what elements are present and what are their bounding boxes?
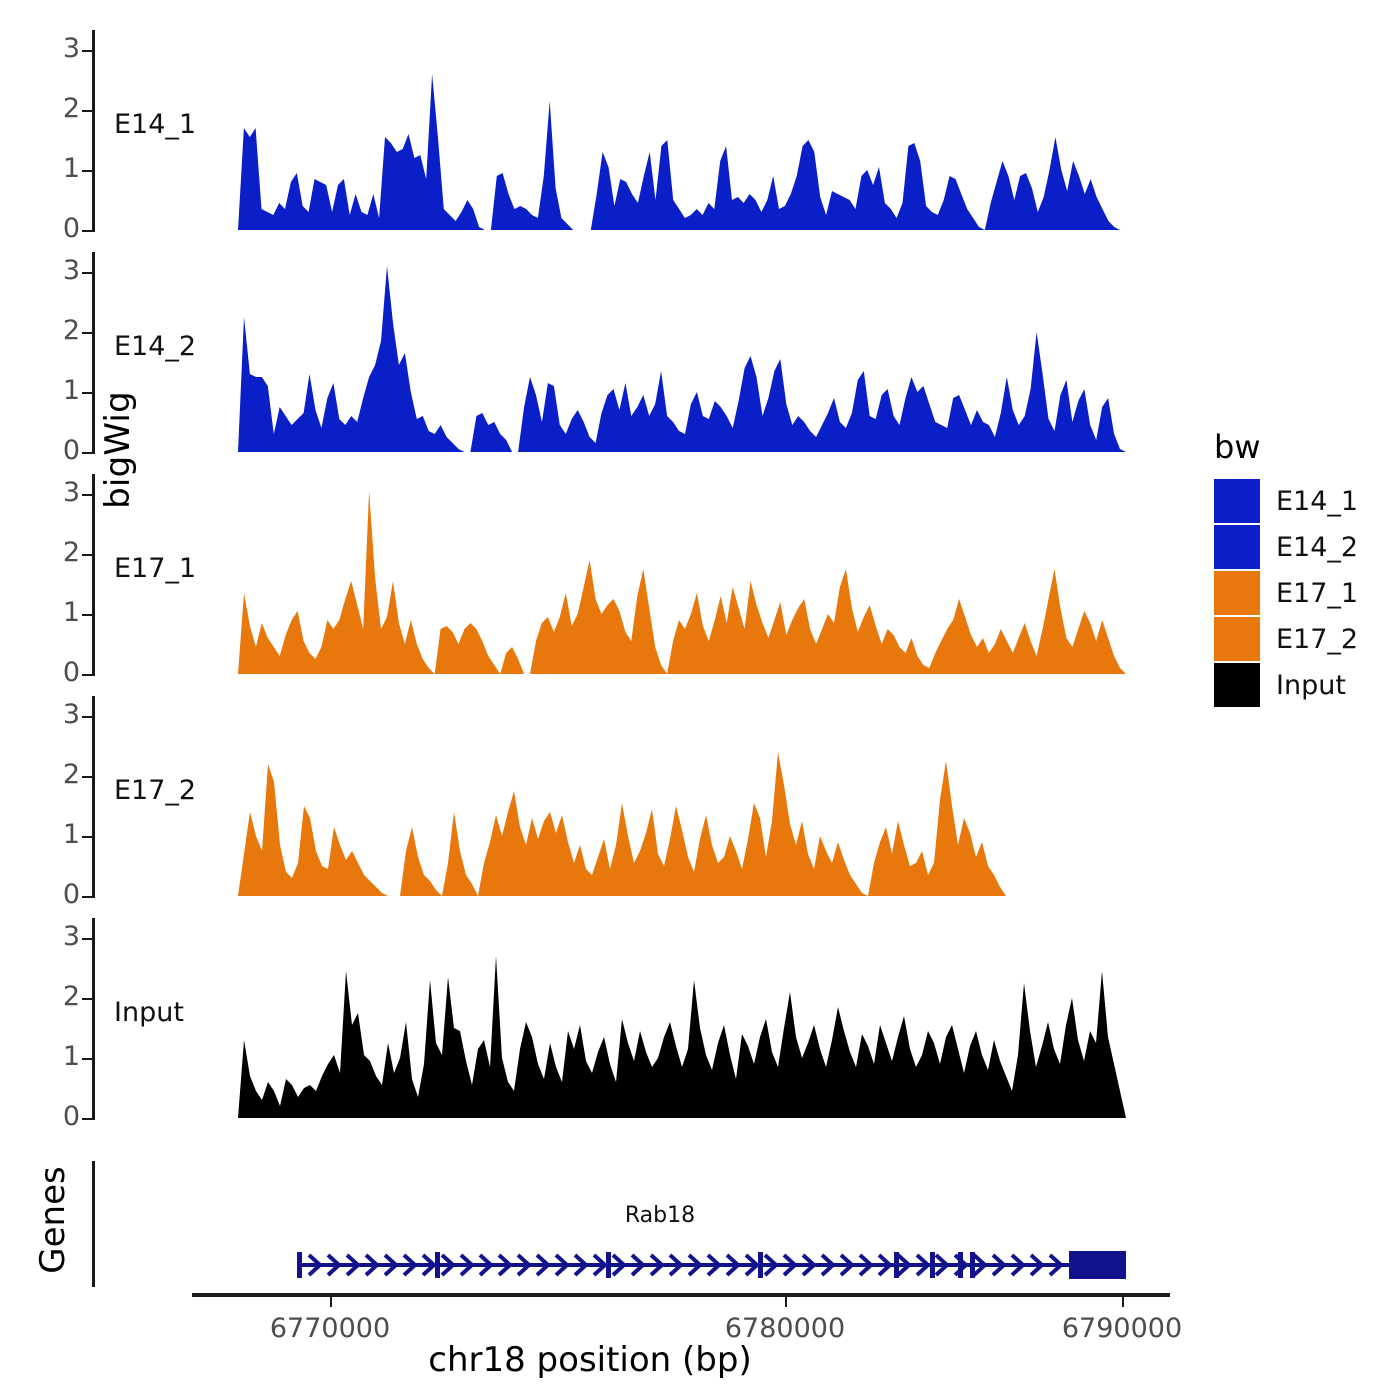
legend-item-e14_2[interactable]: E14_2 xyxy=(1214,524,1394,570)
legend-label: E14_2 xyxy=(1276,532,1358,563)
bigwig-panel-e17_1: 0123E17_1 xyxy=(0,474,1180,678)
x-tick xyxy=(330,1297,332,1307)
legend-swatch-e14_2 xyxy=(1214,525,1260,569)
legend-item-e17_1[interactable]: E17_1 xyxy=(1214,570,1394,616)
legend-item-input[interactable]: Input xyxy=(1214,662,1394,708)
gene-exon-tick xyxy=(606,1252,611,1278)
legend-item-e17_2[interactable]: E17_2 xyxy=(1214,616,1394,662)
legend-label: Input xyxy=(1276,670,1346,701)
legend: bw E14_1E14_2E17_1E17_2Input xyxy=(1214,430,1394,708)
track-area-e17_2 xyxy=(0,696,1180,900)
bigwig-panel-input: 0123Input xyxy=(0,918,1180,1122)
legend-title: bw xyxy=(1214,430,1394,464)
legend-swatch-e17_2 xyxy=(1214,617,1260,661)
x-axis-line xyxy=(192,1293,1170,1297)
track-area-e14_2 xyxy=(0,252,1180,456)
gene-exon-tick xyxy=(297,1252,302,1278)
x-axis-title: chr18 position (bp) xyxy=(0,1340,1180,1380)
legend-swatch-e17_1 xyxy=(1214,571,1260,615)
gene-exon-tick xyxy=(958,1252,963,1278)
gene-terminal-exon xyxy=(1069,1251,1126,1279)
legend-swatch-e14_1 xyxy=(1214,479,1260,523)
gene-exon-tick xyxy=(435,1252,440,1278)
genome-browser-figure: bigWig Genes 0123E14_10123E14_20123E17_1… xyxy=(0,0,1400,1400)
gene-exon-tick xyxy=(894,1252,899,1278)
legend-label: E17_1 xyxy=(1276,578,1358,609)
x-tick xyxy=(785,1297,787,1307)
legend-swatch-input xyxy=(1214,663,1260,707)
bigwig-panel-e14_1: 0123E14_1 xyxy=(0,30,1180,234)
bigwig-panel-e17_2: 0123E17_2 xyxy=(0,696,1180,900)
gene-exon-tick xyxy=(930,1252,935,1278)
gene-exon-tick xyxy=(970,1252,975,1278)
track-area-input xyxy=(0,918,1180,1122)
gene-track-panel: Rab18 xyxy=(0,1155,1180,1295)
track-area-e14_1 xyxy=(0,30,1180,234)
bigwig-panel-e14_2: 0123E14_2 xyxy=(0,252,1180,456)
gene-model[interactable] xyxy=(0,1155,1180,1295)
gene-exon-tick xyxy=(758,1252,763,1278)
legend-items: E14_1E14_2E17_1E17_2Input xyxy=(1214,478,1394,708)
track-area-e17_1 xyxy=(0,474,1180,678)
x-tick xyxy=(1122,1297,1124,1307)
legend-item-e14_1[interactable]: E14_1 xyxy=(1214,478,1394,524)
legend-label: E17_2 xyxy=(1276,624,1358,655)
legend-label: E14_1 xyxy=(1276,486,1358,517)
